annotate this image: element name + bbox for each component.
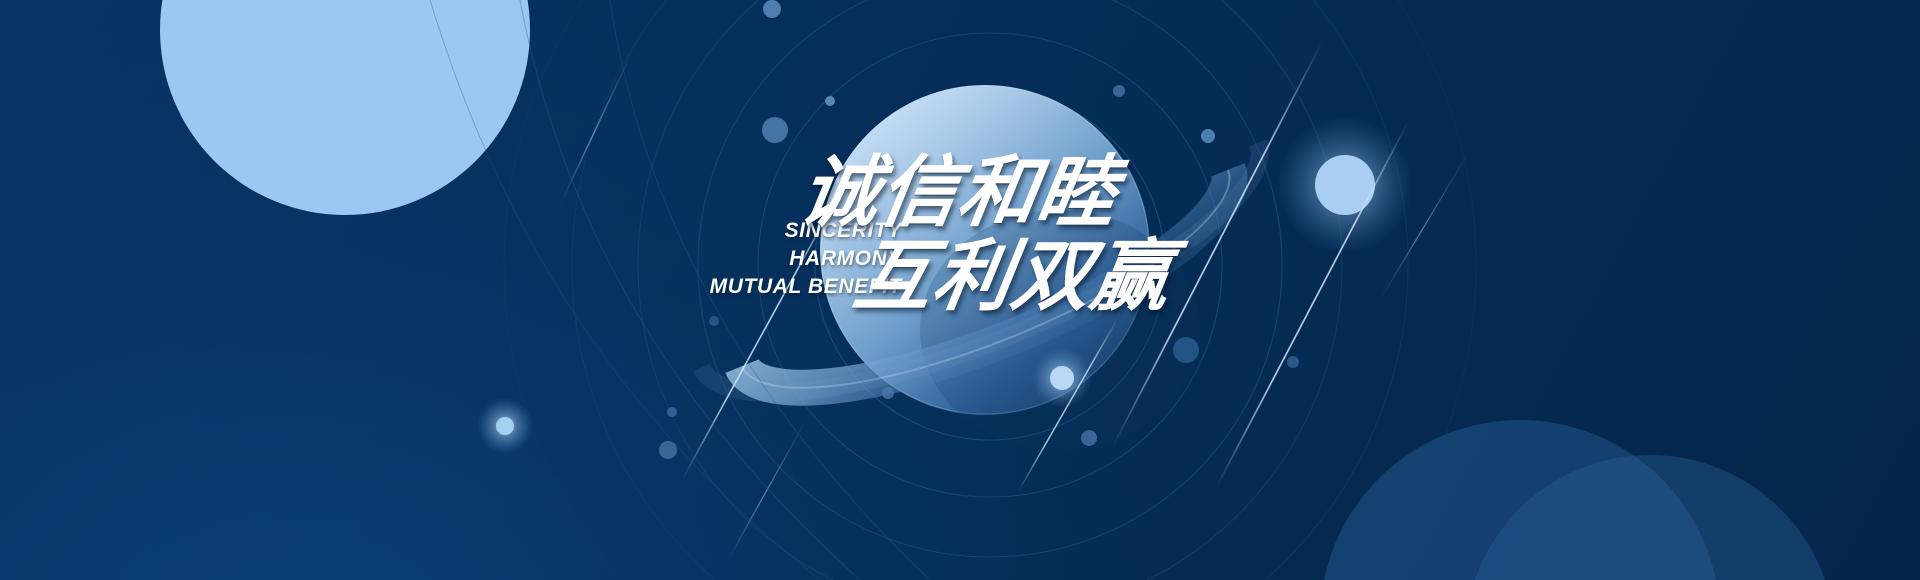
headline-line-2: 互利双赢 [848, 234, 1178, 320]
hero-banner: SINCERITY HARMONY MUTUAL BENEFIT 诚信和睦 互利… [0, 0, 1920, 580]
headline-block: SINCERITY HARMONY MUTUAL BENEFIT 诚信和睦 互利… [640, 150, 1400, 370]
decor-circles-bottom-right [1320, 420, 1835, 580]
glow-dot-left [477, 398, 533, 454]
headline-line-1: 诚信和睦 [794, 150, 1124, 236]
decor-circle-top-left [160, 0, 530, 215]
